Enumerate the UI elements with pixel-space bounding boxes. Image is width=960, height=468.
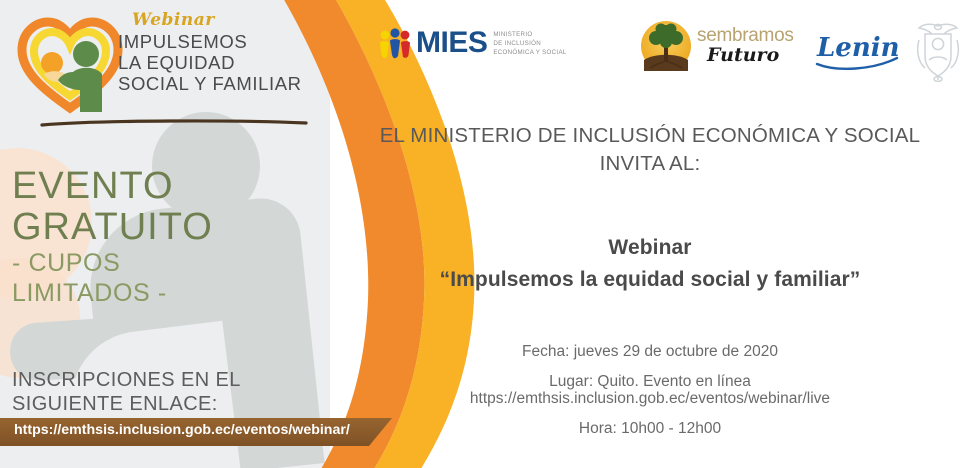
laurel-right <box>951 40 958 68</box>
signup-label: INSCRIPCIONES EN EL SIGUIENTE ENLACE: <box>12 368 312 417</box>
adult-head-icon <box>73 41 99 67</box>
headline: EL MINISTERIO DE INCLUSIÓN ECONÓMICA Y S… <box>340 122 960 179</box>
ecuador-coat-of-arms-icon <box>915 20 960 87</box>
mies-figure-head-yellow <box>381 31 390 40</box>
mies-wordmark: MIES <box>416 26 487 60</box>
mies-subtitle: MINISTERIO DE INCLUSIÓN ECONÓMICA Y SOCI… <box>493 31 566 57</box>
heart-family-svg <box>14 16 126 116</box>
signup-url-band[interactable]: https://emthsis.inclusion.gob.ec/eventos… <box>0 418 392 446</box>
webinar-title-block: Webinar “Impulsemos la equidad social y … <box>340 232 960 296</box>
coat-of-arms-svg <box>915 20 960 82</box>
sembramos-text: sembramos Futuro <box>697 26 794 66</box>
signup-label-line-1: INSCRIPCIONES EN EL <box>12 368 312 392</box>
partner-logos-row: MIES MINISTERIO DE INCLUSIÓN ECONÓMICA Y… <box>360 18 960 90</box>
lenin-signature: Lenin <box>815 28 901 81</box>
headline-line-1: EL MINISTERIO DE INCLUSIÓN ECONÓMICA Y S… <box>340 122 960 150</box>
limited-slots-text: - CUPOS LIMITADOS - <box>12 248 312 308</box>
mies-figure-body-yellow <box>380 41 389 58</box>
logo-title-line-3: SOCIAL Y FAMILIAR <box>118 74 318 95</box>
signup-label-line-2: SIGUIENTE ENLACE: <box>12 392 312 416</box>
webinar-label: Webinar <box>340 232 960 264</box>
mies-subtitle-line-1: MINISTERIO <box>493 31 566 40</box>
sembramos-line-1: sembramos <box>697 26 794 45</box>
event-details: Fecha: jueves 29 de octubre de 2020 Luga… <box>340 344 960 450</box>
sembramos-line-2: Futuro <box>707 46 794 66</box>
mies-family-heart-icon <box>378 26 412 60</box>
limited-slots-line-1: - CUPOS <box>12 248 312 278</box>
logo-text-group: Webinar IMPULSEMOS LA EQUIDAD SOCIAL Y F… <box>118 12 318 95</box>
underline-svg <box>40 119 308 127</box>
webinar-brand-logo: Webinar IMPULSEMOS LA EQUIDAD SOCIAL Y F… <box>14 10 314 118</box>
logo-title-lines: IMPULSEMOS LA EQUIDAD SOCIAL Y FAMILIAR <box>118 32 318 95</box>
free-event-line-1: EVENTO <box>12 166 312 207</box>
headline-line-2: INVITA AL: <box>340 150 960 178</box>
mies-figure-body-blue <box>390 39 400 58</box>
free-event-heading: EVENTO GRATUITO <box>12 166 312 247</box>
event-time: Hora: 10h00 - 12h00 <box>340 421 960 437</box>
underline-stroke <box>42 121 306 125</box>
webinar-name: “Impulsemos la equidad social y familiar… <box>340 264 960 296</box>
tree-circle-icon <box>640 20 692 72</box>
main-content: MIES MINISTERIO DE INCLUSIÓN ECONÓMICA Y… <box>340 0 960 468</box>
shield-sun <box>932 38 943 49</box>
mies-logo: MIES MINISTERIO DE INCLUSIÓN ECONÓMICA Y… <box>378 26 567 60</box>
logo-script-word: Webinar <box>132 12 318 29</box>
mies-figure-body-red <box>401 41 410 58</box>
baby-head-icon <box>41 52 63 74</box>
webinar-invitation-poster: Webinar IMPULSEMOS LA EQUIDAD SOCIAL Y F… <box>0 0 960 468</box>
shield-ship <box>929 57 947 60</box>
event-place: Lugar: Quito. Evento en línea <box>340 374 960 390</box>
lenin-signature-text: Lenin <box>816 33 900 63</box>
lenin-signature-svg: Lenin <box>815 28 901 76</box>
mies-subtitle-line-2: DE INCLUSIÓN <box>493 40 566 49</box>
laurel-left <box>918 40 925 68</box>
logo-underline-swash <box>40 114 308 121</box>
event-date: Fecha: jueves 29 de octubre de 2020 <box>340 344 960 360</box>
sembramos-futuro-logo: sembramos Futuro <box>640 20 794 72</box>
condor-body <box>935 24 942 29</box>
signup-url-text[interactable]: https://emthsis.inclusion.gob.ec/eventos… <box>14 422 350 438</box>
mies-figure-head-red <box>401 31 410 40</box>
free-event-line-2: GRATUITO <box>12 207 312 248</box>
mies-figure-head-blue <box>390 28 399 37</box>
heart-family-icon <box>14 16 126 116</box>
shield-outline <box>925 34 951 76</box>
logo-title-line-2: LA EQUIDAD <box>118 53 318 74</box>
mies-subtitle-line-3: ECONÓMICA Y SOCIAL <box>493 49 566 58</box>
event-link[interactable]: https://emthsis.inclusion.gob.ec/eventos… <box>340 391 960 407</box>
limited-slots-line-2: LIMITADOS - <box>12 278 312 308</box>
logo-title-line-1: IMPULSEMOS <box>118 32 318 53</box>
